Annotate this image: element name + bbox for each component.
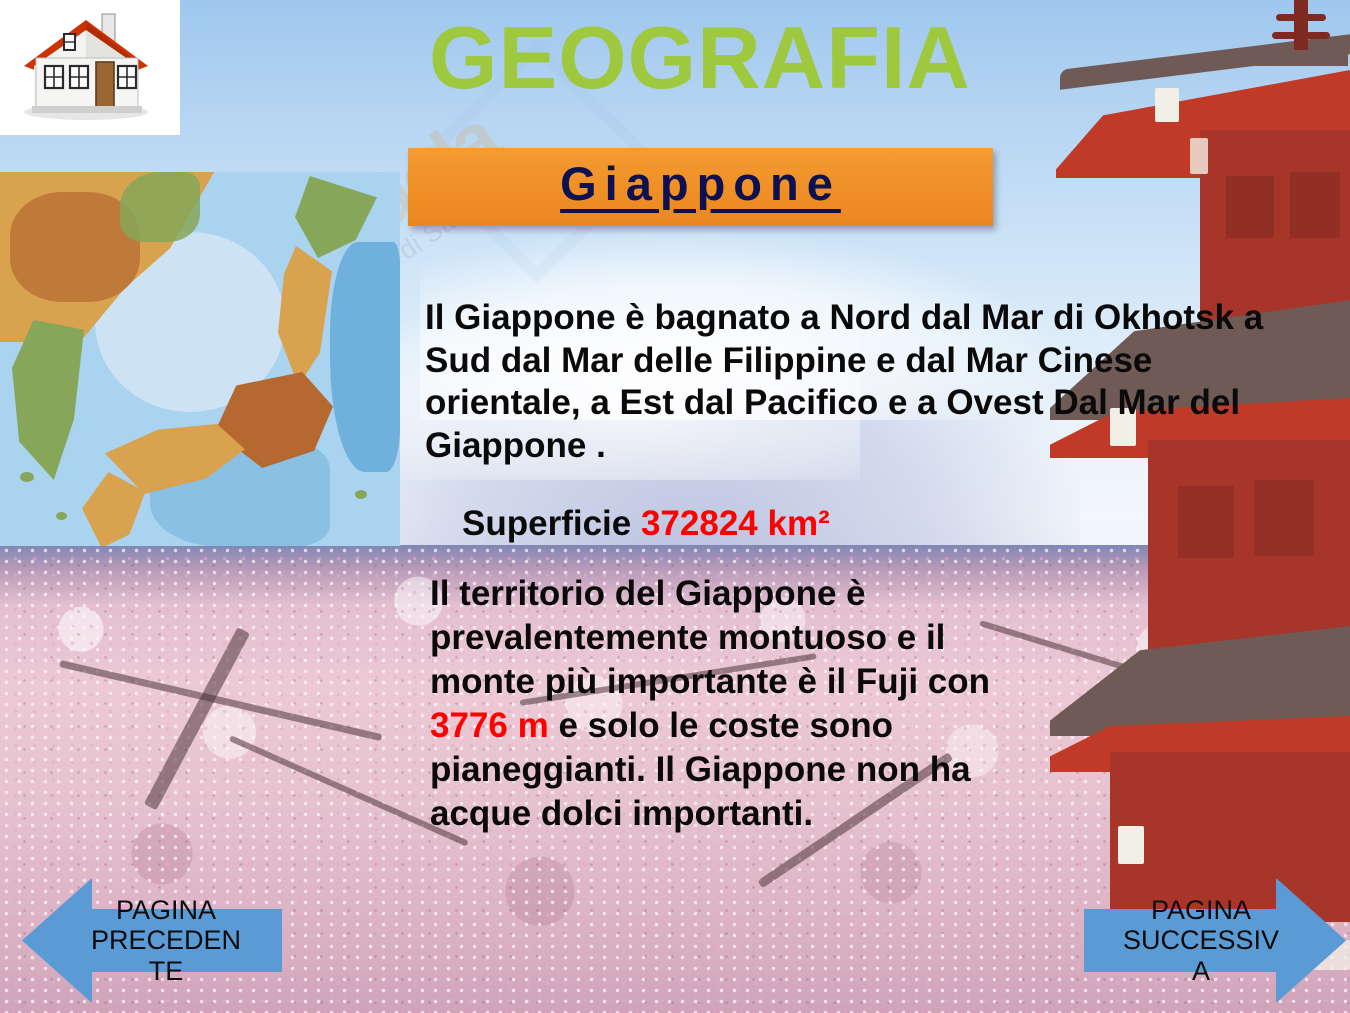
next-page-label: PAGINA SUCCESSIV A (1084, 868, 1346, 1013)
presentation-slide: uola di Studente (0, 0, 1350, 1013)
map-lowland (120, 172, 200, 242)
body-paragraph-1: Il Giappone è bagnato a Nord dal Mar di … (425, 297, 1305, 468)
pagoda-finial-ring (1272, 32, 1330, 39)
subtitle-text: Giappone (408, 156, 993, 211)
pagoda-window (1226, 176, 1274, 238)
subtitle-banner: Giappone (408, 148, 993, 226)
map-deep-ocean (330, 242, 400, 472)
slide-title: GEOGRAFIA (360, 12, 1040, 104)
previous-page-label: PAGINA PRECEDEN TE (22, 868, 282, 1013)
pagoda-window (1178, 486, 1234, 558)
pagoda-lantern (1118, 826, 1144, 864)
fuji-height-value: 3776 m (430, 706, 549, 745)
next-page-button[interactable]: PAGINA SUCCESSIV A (1084, 868, 1346, 1013)
pagoda-lantern (1155, 88, 1179, 122)
superficie-label: Superficie (462, 504, 631, 543)
paragraph-2-pre: Il territorio del Giappone è prevalentem… (430, 574, 990, 701)
japan-relief-map (0, 172, 400, 546)
house-icon (12, 8, 168, 128)
body-paragraph-2: Il territorio del Giappone è prevalentem… (430, 572, 1030, 837)
superficie-unit: km² (768, 504, 830, 543)
home-button[interactable] (0, 0, 180, 135)
pagoda-window (1290, 172, 1340, 238)
pagoda-lantern (1190, 138, 1208, 174)
map-islet (56, 512, 67, 520)
pagoda-window (1254, 480, 1314, 556)
map-islet (20, 472, 34, 482)
previous-page-button[interactable]: PAGINA PRECEDEN TE (22, 868, 282, 1013)
superficie-line: Superficie 372824 km² (462, 503, 1082, 546)
superficie-value: 372824 (641, 504, 758, 543)
pagoda-finial-ring (1276, 14, 1326, 21)
pagoda-finial-base (1256, 50, 1348, 66)
map-islet (355, 490, 367, 499)
